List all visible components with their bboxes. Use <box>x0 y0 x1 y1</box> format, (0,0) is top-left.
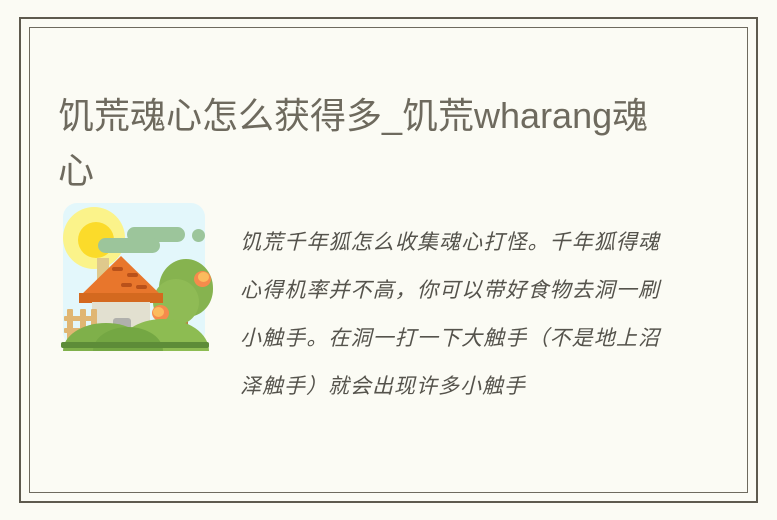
ground-strip-icon <box>61 342 209 348</box>
roof-tile-3 <box>121 283 132 287</box>
roof-tile-1 <box>112 267 123 271</box>
orange-fruit-highlight-2 <box>153 307 164 317</box>
house-roof-icon <box>79 256 163 297</box>
orange-fruit-highlight-1 <box>198 272 209 282</box>
cloud-icon-lower <box>98 238 160 253</box>
roof-tile-2 <box>127 273 138 277</box>
page-title: 饥荒魂心怎么获得多_饥荒wharang魂心 <box>58 88 670 198</box>
outer-border-frame: 饥荒魂心怎么获得多_饥荒wharang魂心 <box>19 17 758 503</box>
page-root: 饥荒魂心怎么获得多_饥荒wharang魂心 <box>0 0 777 520</box>
article-content-row: 饥荒千年狐怎么收集魂心打怪。千年狐得魂心得机率并不高，你可以带好食物去洞一刷小触… <box>30 197 747 431</box>
cloud-dot-icon <box>192 229 205 242</box>
article-body-text: 饥荒千年狐怎么收集魂心打怪。千年狐得魂心得机率并不高，你可以带好食物去洞一刷小触… <box>240 218 660 410</box>
roof-tile-4 <box>136 285 147 289</box>
article-thumbnail-image <box>55 197 213 357</box>
inner-border-frame: 饥荒魂心怎么获得多_饥荒wharang魂心 <box>29 27 748 493</box>
